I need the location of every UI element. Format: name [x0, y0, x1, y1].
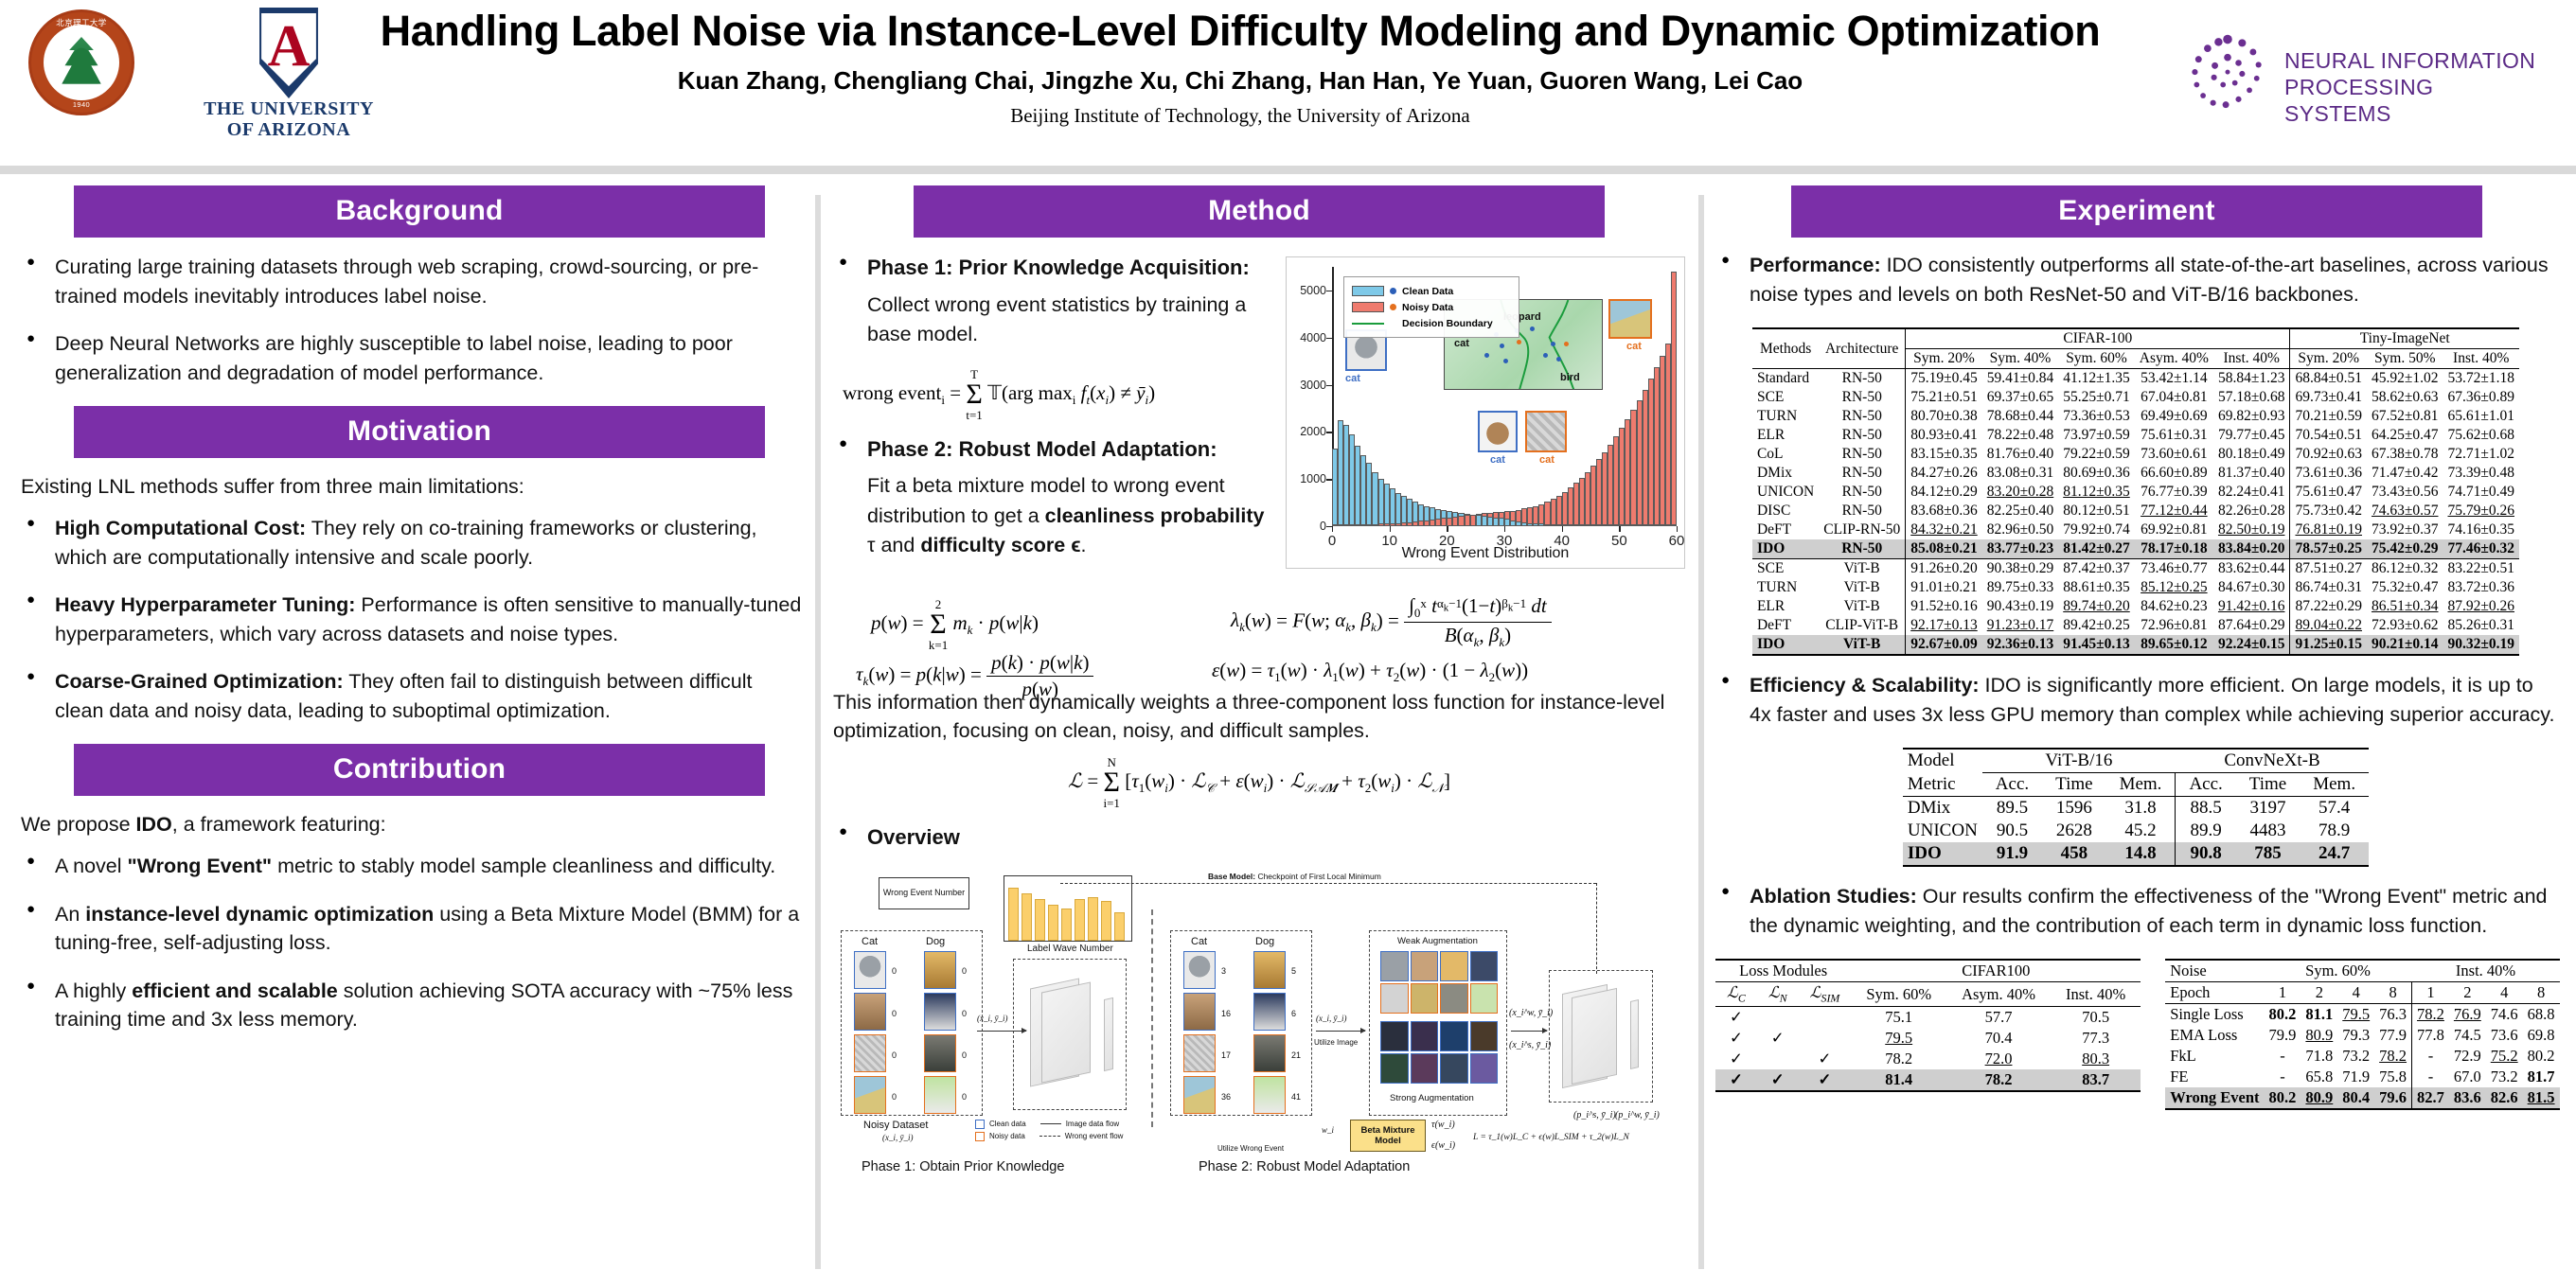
overview-xy-pair-2: (x_i, ȳ_i) [1316, 1014, 1346, 1023]
overview-dog-count: 21 [1291, 1050, 1301, 1060]
aug-thumb [1380, 983, 1409, 1014]
overview-wave-bar [1101, 901, 1111, 941]
inset-label-bird: bird [1560, 372, 1580, 383]
table-row: ✓✓78.272.080.3 [1715, 1049, 2141, 1069]
overview-dog-count: 5 [1291, 966, 1296, 976]
table-row: EMA Loss79.980.979.377.977.874.573.669.8 [2165, 1025, 2559, 1046]
formula-mixture: p(w) = 2Σk=1 mk · p(w|k) [871, 598, 1039, 651]
overview-figure: Wrong Event Number Cat Dog 0 0 0 0 [833, 872, 1666, 1156]
phase2-body-strong1: cleanliness probability [1045, 504, 1265, 527]
overview-label-cat-2: Cat [1191, 936, 1207, 947]
method-formula-row: p(w) = 2Σk=1 mk · p(w|k) λk(w) = F(w; αk… [833, 579, 1685, 683]
efficiency-table: ModelViT-B/16ConvNeXt-BMetricAcc.TimeMem… [1903, 748, 2369, 867]
ablation-loss-table: Loss ModulesCIFAR100ℒCℒNℒSIMSym. 60%Asym… [1715, 959, 2141, 1092]
overview-p2-img-cat-1 [1183, 951, 1216, 989]
aug-thumb [1470, 951, 1499, 981]
legend-label-noisy: Noisy Data [1402, 302, 1453, 313]
overview-network-head [1104, 997, 1113, 1071]
overview-cat-count: 16 [1221, 1009, 1231, 1018]
overview-wrong-event-number-box: Wrong Event Number [879, 877, 969, 909]
inset-point-clean [1503, 359, 1508, 363]
overview-img-dog-3 [924, 1034, 956, 1072]
list-item: A highly efficient and scalable solution… [21, 977, 805, 1034]
table-row: IDO91.945814.890.878524.7 [1903, 842, 2369, 866]
method-overview-list: Overview [833, 822, 1685, 853]
overview-legend-wrongflow-label: Wrong event flow [1065, 1132, 1124, 1140]
chart-y-tick-label: 4000 [1300, 331, 1326, 344]
contribution-bullet-list: A novel "Wrong Event" metric to stably m… [21, 852, 805, 1034]
chart-y-tick-label: 0 [1320, 520, 1326, 533]
overview-arrow-dataset-to-net [977, 1031, 1026, 1032]
overview-legend-imageflow-label: Image data flow [1066, 1120, 1119, 1128]
formula-total-loss: ℒ = NΣi=1 [τ1(wi) · ℒ𝒞 + ε(wi) · ℒ𝒮𝒜𝑴 + … [833, 756, 1685, 809]
phase2-body-mid: τ and [867, 534, 920, 556]
chart-x-tick-mark [1562, 526, 1563, 532]
main-results-table: MethodsArchitectureCIFAR-100Tiny-ImageNe… [1752, 327, 2519, 656]
column-left: Background Curating large training datas… [21, 185, 805, 1053]
overview-wave-bar [1088, 897, 1098, 941]
table-row: IDORN-5085.08±0.2183.77±0.2381.42±0.2778… [1752, 539, 2519, 559]
legend-item-boundary: Decision Boundary [1352, 315, 1511, 331]
list-item-pre: A novel [55, 855, 128, 877]
table-row: IDOViT-B92.67±0.0992.36±0.1391.45±0.1389… [1752, 635, 2519, 655]
chart-y-tick-label: 2000 [1300, 425, 1326, 438]
legend-item-clean: Clean Data [1352, 283, 1511, 299]
table-row: SCERN-5075.21±0.5169.37±0.6555.25±0.7167… [1752, 388, 2519, 407]
method-phase1-list: Phase 1: Prior Knowledge Acquisition: Co… [833, 253, 1269, 349]
overview-p-strong: (p_i^s, ȳ_i) [1573, 1110, 1616, 1120]
list-item-strong: Heavy Hyperparameter Tuning: [55, 593, 355, 616]
contribution-lead-post: , a framework featuring: [172, 813, 386, 836]
section-header-contribution: Contribution [74, 744, 765, 796]
table-row: DMix89.5159631.888.5319757.4 [1903, 797, 2369, 820]
overview-wave-bar [1061, 909, 1072, 941]
overview-label-wave-caption: Label Wave Number [1027, 944, 1113, 954]
affiliation: Beijing Institute of Technology, the Uni… [312, 104, 2168, 128]
overview-zero-count: 0 [892, 1009, 897, 1018]
overview-legend-clean: Clean data Image data flow [975, 1120, 1123, 1129]
overview-wave-bar [1022, 893, 1032, 941]
neurips-logo: NEURAL INFORMATION PROCESSING SYSTEMS [2182, 26, 2542, 125]
list-item: Deep Neural Networks are highly suscepti… [21, 329, 805, 387]
poster-columns: Background Curating large training datas… [0, 185, 2576, 1288]
overview-weak-tuple: (x_i^w, ȳ_i) [1509, 1008, 1553, 1018]
list-item: Ablation Studies: Our results confirm th… [1715, 882, 2556, 940]
phase1-body: Collect wrong event statistics by traini… [867, 291, 1269, 349]
list-item: An instance-level dynamic optimization u… [21, 900, 805, 958]
overview-img-cat-4 [854, 1076, 886, 1114]
overview-phase2-caption: Phase 2: Robust Model Adaptation [1199, 1159, 1410, 1174]
phase2-title: Phase 2: Robust Model Adaptation: [867, 437, 1217, 461]
overview-p2-img-dog-3 [1253, 1034, 1286, 1072]
column-divider-1 [815, 195, 821, 1269]
neurips-logo-text: NEURAL INFORMATION PROCESSING SYSTEMS [2284, 47, 2542, 127]
column-right: Experiment Performance: IDO consistently… [1715, 185, 2556, 1110]
section-header-experiment: Experiment [1791, 185, 2482, 238]
overview-legend-noisy-label: Noisy data [989, 1132, 1025, 1140]
overview-base-model-rest: Checkpoint of First Local Minimum [1255, 872, 1381, 881]
overview-arrow-to-aug [1316, 1031, 1365, 1032]
legend-line-boundary [1352, 323, 1384, 325]
aug-thumb [1411, 951, 1439, 981]
bit-logo-inner [44, 25, 119, 100]
legend-item-noisy: Noisy Data [1352, 299, 1511, 315]
overview-dog-count: 41 [1291, 1092, 1301, 1102]
chart-bar [1671, 272, 1677, 526]
neurips-logo-line1: NEURAL INFORMATION [2284, 47, 2542, 74]
table-row: ELRRN-5080.93±0.4178.22±0.4873.97±0.5975… [1752, 426, 2519, 445]
table-row: CoLRN-5083.15±0.3581.76±0.4079.22±0.5973… [1752, 445, 2519, 464]
overview-zero-count: 0 [962, 1009, 967, 1018]
legend-dot-noisy [1390, 304, 1396, 310]
overview-zero-count: 0 [892, 1092, 897, 1102]
chart-x-label: Wrong Event Distribution [1287, 545, 1684, 562]
table-row: Single Loss80.281.179.576.378.276.974.66… [2165, 1004, 2559, 1026]
overview-legend-clean-label: Clean data [989, 1120, 1026, 1128]
wrong-event-chart: 010002000300040005000 0102030405060 leop… [1286, 256, 1685, 569]
overview-img-cat-2 [854, 993, 886, 1031]
list-item-strong: Efficiency & Scalability: [1750, 674, 1980, 697]
overview-final-loss: L = τ_1(w)L_C + ϵ(w)L_SIM + τ_2(w)L_N [1473, 1133, 1629, 1142]
title-block: Handling Label Noise via Instance-Level … [312, 8, 2168, 128]
aug-thumb [1411, 983, 1439, 1014]
arrow-dashed-icon [1039, 1136, 1060, 1137]
noisy-swatch-icon [975, 1132, 985, 1141]
overview-p2-network-2 [1572, 988, 1617, 1085]
chart-x-tick-mark [1504, 526, 1505, 532]
list-item-strong: Coarse-Grained Optimization: [55, 670, 344, 693]
overview-base-model-drop [1596, 883, 1597, 974]
method-phase2-list: Phase 2: Robust Model Adaptation: Fit a … [833, 434, 1269, 560]
aug-thumb [1470, 1053, 1499, 1084]
aug-thumb [1380, 951, 1409, 981]
header-divider [0, 166, 2576, 174]
formula-epsilon: ε(w) = τ1(w) · λ1(w) + τ2(w) · (1 − λ2(w… [1212, 659, 1528, 685]
overview-title: Overview [867, 825, 960, 849]
overview-label-dog-2: Dog [1255, 936, 1274, 947]
formula-lambda: λk(w) = F(w; αk, βk) = ∫0x tαk−1(1−t)βk−… [1231, 594, 1552, 650]
overview-label-wave-box [1004, 875, 1132, 942]
list-item-strong: Ablation Studies: [1750, 885, 1917, 908]
overview-xy-pair-1: (x_i, ȳ_i) [977, 1014, 1007, 1023]
table-row: TURNRN-5080.70±0.3878.68±0.4473.36±0.536… [1752, 407, 2519, 426]
phase2-body-strong2: difficulty score ϵ [920, 534, 1080, 556]
aug-thumb [1440, 983, 1468, 1014]
chart-y-tick-label: 5000 [1300, 284, 1326, 297]
phase2-body: Fit a beta mixture model to wrong event … [867, 471, 1269, 560]
inset-point-clean [1556, 357, 1561, 362]
table-row: DeFTCLIP-ViT-B92.17±0.1391.23±0.1789.42±… [1752, 616, 2519, 635]
table-row: ✓✓✓81.478.283.7 [1715, 1069, 2141, 1091]
chart-x-tick-mark [1447, 526, 1448, 532]
aug-thumb [1470, 1021, 1499, 1051]
list-item: Phase 1: Prior Knowledge Acquisition: Co… [833, 253, 1269, 349]
list-item-strong: High Computational Cost: [55, 517, 306, 539]
overview-bmm-box: Beta Mixture Model [1350, 1120, 1426, 1152]
chart-x-tick-mark [1332, 526, 1333, 532]
overview-wave-bar [1048, 905, 1058, 941]
overview-p2-img-cat-2 [1183, 993, 1216, 1031]
chart-x-tick-mark [1619, 526, 1620, 532]
inset-point-clean [1530, 326, 1535, 331]
experiment-efficiency-list: Efficiency & Scalability: IDO is signifi… [1715, 671, 2556, 729]
table-row: ✓75.157.770.5 [1715, 1007, 2141, 1029]
overview-p2-img-dog-2 [1253, 993, 1286, 1031]
overview-cat-count: 17 [1221, 1050, 1231, 1060]
chart-x-tick-mark [1390, 526, 1391, 532]
column-divider-2 [1698, 195, 1704, 1269]
aug-thumb [1411, 1021, 1439, 1051]
legend-swatch-clean [1352, 286, 1384, 296]
list-item: Efficiency & Scalability: IDO is signifi… [1715, 671, 2556, 729]
phase2-body-post: . [1081, 534, 1087, 556]
overview-img-dog-2 [924, 993, 956, 1031]
table-row: SCEViT-B91.26±0.2090.38±0.2987.42±0.3773… [1752, 559, 2519, 579]
list-item: Overview [833, 822, 1685, 853]
table-row: Wrong Event80.280.980.479.682.783.682.68… [2165, 1087, 2559, 1109]
overview-zero-count: 0 [892, 966, 897, 976]
overview-strong-aug-grid [1380, 1021, 1498, 1084]
table-row: DISCRN-5083.68±0.3682.25±0.4080.12±0.517… [1752, 502, 2519, 520]
overview-base-model-caption: Base Model: Checkpoint of First Local Mi… [1208, 872, 1381, 881]
chart-thumb-caption: cat [1230, 373, 1476, 384]
overview-p2-img-cat-3 [1183, 1034, 1216, 1072]
overview-utilize-image-label: Utilize Image [1314, 1038, 1358, 1047]
section-header-background: Background [74, 185, 765, 238]
list-item-strong: efficient and scalable [132, 979, 337, 1002]
section-header-method: Method [914, 185, 1605, 238]
overview-label-cat: Cat [862, 936, 878, 947]
list-item-pre: A highly [55, 979, 132, 1002]
overview-p2-img-dog-4 [1253, 1076, 1286, 1114]
ablation-noise-table: NoiseSym. 60%Inst. 40%Epoch12481248Singl… [2165, 959, 2559, 1110]
aug-thumb [1440, 951, 1468, 981]
aug-thumb [1380, 1053, 1409, 1084]
overview-p-weak: (p_i^w, ȳ_i) [1615, 1110, 1660, 1120]
overview-label-dog: Dog [926, 936, 945, 947]
table-row: FE-65.871.975.8-67.073.281.7 [2165, 1067, 2559, 1087]
chart-legend: Clean Data Noisy Data Decision Boundary [1343, 276, 1519, 338]
aug-thumb [1411, 1053, 1439, 1084]
bit-logo-ring-bottom: 1940 [31, 100, 132, 109]
aug-thumb [1440, 1021, 1468, 1051]
overview-zero-count: 0 [962, 966, 967, 976]
overview-noisy-dataset-caption: Noisy Dataset [863, 1120, 928, 1131]
experiment-ablation-list: Ablation Studies: Our results confirm th… [1715, 882, 2556, 940]
chart-plot-area: 010002000300040005000 0102030405060 leop… [1332, 267, 1677, 526]
overview-img-dog-1 [924, 951, 956, 989]
author-list: Kuan Zhang, Chengliang Chai, Jingzhe Xu,… [312, 66, 2168, 96]
section-header-motivation: Motivation [74, 406, 765, 458]
legend-label-clean: Clean Data [1402, 286, 1453, 297]
aug-thumb [1380, 1021, 1409, 1051]
inset-point-clean [1543, 353, 1548, 358]
formula-tau: τk(w) = p(k|w) = p(k) · p(w|k) p(w) [856, 651, 1093, 701]
overview-cat-count: 36 [1221, 1092, 1231, 1102]
overview-wave-bar [1035, 899, 1045, 941]
overview-p2-img-cat-4 [1183, 1076, 1216, 1114]
overview-wave-bar [1008, 888, 1019, 941]
overview-wave-bar [1075, 899, 1085, 941]
overview-p2-img-dog-1 [1253, 951, 1286, 989]
table-row: TURNViT-B91.01±0.2189.75±0.3388.61±0.358… [1752, 578, 2519, 597]
chart-y-tick-label: 1000 [1300, 472, 1326, 485]
poster-root: 北京理工大学 1940 A THE UNIVERSITY OF ARIZONA … [0, 0, 2576, 1288]
legend-swatch-noisy [1352, 302, 1384, 312]
list-item: Phase 2: Robust Model Adaptation: Fit a … [833, 434, 1269, 560]
table-row: UNICON90.5262845.289.9448378.9 [1903, 820, 2369, 842]
list-item: Heavy Hyperparameter Tuning: Performance… [21, 591, 805, 648]
motivation-lead: Existing LNL methods suffer from three m… [21, 475, 805, 499]
list-item-strong: instance-level dynamic optimization [85, 903, 434, 926]
overview-w-i: w_i [1322, 1125, 1334, 1135]
overview-dog-count: 6 [1291, 1009, 1296, 1018]
chart-thumb-bird-noisy [1608, 299, 1652, 339]
formula-wrong-event: wrong eventi = TΣt=1 𝕋(arg maxi ft(xi) ≠… [843, 368, 1269, 421]
overview-strong-aug-label: Strong Augmentation [1390, 1093, 1474, 1103]
list-item: Curating large training datasets through… [21, 253, 805, 310]
list-item: Performance: IDO consistently outperform… [1715, 251, 2556, 309]
overview-cat-count: 3 [1221, 966, 1226, 976]
chart-thumb-leopard-noisy [1525, 411, 1567, 452]
aug-thumb [1440, 1053, 1468, 1084]
ablation-tables-row: Loss ModulesCIFAR100ℒCℒNℒSIMSym. 60%Asym… [1715, 959, 2556, 1110]
clean-swatch-icon [975, 1120, 985, 1129]
legend-dot-clean [1390, 288, 1396, 294]
list-item-strong: Performance: [1750, 254, 1881, 276]
aug-thumb [1470, 983, 1499, 1014]
motivation-bullet-list: High Computational Cost: They rely on co… [21, 514, 805, 725]
overview-img-cat-3 [854, 1034, 886, 1072]
overview-base-model-strong: Base Model: [1208, 872, 1255, 881]
arrow-solid-icon [1040, 1123, 1061, 1124]
overview-eps-wi: ϵ(w_i) [1431, 1140, 1455, 1151]
method-body: 010002000300040005000 0102030405060 leop… [833, 253, 1685, 1156]
overview-utilize-wrong-event-label: Utilize Wrong Event [1217, 1144, 1284, 1153]
overview-img-dog-4 [924, 1076, 956, 1114]
contribution-lead: We propose IDO, a framework featuring: [21, 813, 805, 837]
overview-phase1-caption: Phase 1: Obtain Prior Knowledge [862, 1159, 1064, 1174]
table-row: DMixRN-5084.27±0.2683.08±0.3180.69±0.366… [1752, 464, 2519, 483]
overview-legend: Clean data Image data flow Noisy data Wr… [975, 1120, 1123, 1141]
table-row: ✓✓79.570.477.3 [1715, 1028, 2141, 1049]
inset-label-cat: cat [1454, 338, 1469, 349]
table-row: ELRViT-B91.52±0.1690.43±0.1989.74±0.2084… [1752, 597, 2519, 616]
overview-zero-count: 0 [962, 1050, 967, 1060]
list-item: Coarse-Grained Optimization: They often … [21, 667, 805, 725]
phase1-title: Phase 1: Prior Knowledge Acquisition: [867, 256, 1250, 279]
contribution-lead-pre: We propose [21, 813, 136, 836]
overview-base-model-line [1060, 883, 1596, 884]
overview-img-cat-1 [854, 951, 886, 989]
list-item-pre: An [55, 903, 85, 926]
bit-logo-emblem-icon [60, 37, 103, 88]
overview-phase-separator [1151, 909, 1153, 1127]
inset-point-clean [1484, 353, 1489, 358]
overview-strong-tuple: (x_i^s, ȳ_i) [1509, 1040, 1551, 1050]
table-row: StandardRN-5075.19±0.4559.41±0.8441.12±1… [1752, 369, 2519, 389]
overview-p2-network-head [1630, 999, 1639, 1069]
experiment-performance-list: Performance: IDO consistently outperform… [1715, 251, 2556, 309]
overview-weak-aug-label: Weak Augmentation [1397, 936, 1478, 946]
chart-bar [1671, 524, 1677, 526]
list-item-strong: "Wrong Event" [128, 855, 273, 877]
overview-wave-bar [1114, 912, 1125, 941]
list-item: A novel "Wrong Event" metric to stably m… [21, 852, 805, 881]
arizona-letter-a: A [268, 17, 311, 76]
poster-header: 北京理工大学 1940 A THE UNIVERSITY OF ARIZONA … [0, 0, 2576, 175]
table-row: FkL-71.873.278.2-72.975.280.2 [2165, 1046, 2559, 1067]
contribution-lead-strong: IDO [136, 813, 172, 836]
bit-logo: 北京理工大学 1940 [28, 9, 134, 115]
table-row: DeFTCLIP-RN-5084.32±0.2182.96±0.5079.92±… [1752, 520, 2519, 539]
legend-label-boundary: Decision Boundary [1402, 318, 1493, 329]
list-item: High Computational Cost: They rely on co… [21, 514, 805, 572]
chart-x-tick-mark [1677, 526, 1678, 532]
overview-weak-aug-grid [1380, 951, 1498, 1014]
overview-legend-noisy: Noisy data Wrong event flow [975, 1132, 1123, 1141]
column-middle: Method 010002000300040005000 01020304050… [833, 185, 1685, 1156]
method-text-column: Phase 1: Prior Knowledge Acquisition: Co… [833, 253, 1269, 560]
table-row: UNICONRN-5084.12±0.2983.20±0.2881.12±0.3… [1752, 483, 2519, 502]
overview-noisy-dataset-math: (x_i, ȳ_i) [882, 1133, 913, 1142]
overview-zero-count: 0 [962, 1092, 967, 1102]
background-bullet-list: Curating large training datasets through… [21, 253, 805, 387]
overview-zero-count: 0 [892, 1050, 897, 1060]
chart-thumb-sphynx-clean [1478, 411, 1518, 452]
neurips-logo-line2: PROCESSING SYSTEMS [2284, 74, 2542, 127]
overview-network-2 [1041, 981, 1091, 1083]
list-item-post: metric to stably model sample cleanlines… [272, 855, 775, 877]
page-title: Handling Label Noise via Instance-Level … [312, 8, 2168, 55]
neurips-glyph-icon [2182, 28, 2273, 119]
overview-tau-wi: τ(w_i) [1431, 1120, 1455, 1130]
overview-arrow-to-model [1511, 1031, 1547, 1032]
